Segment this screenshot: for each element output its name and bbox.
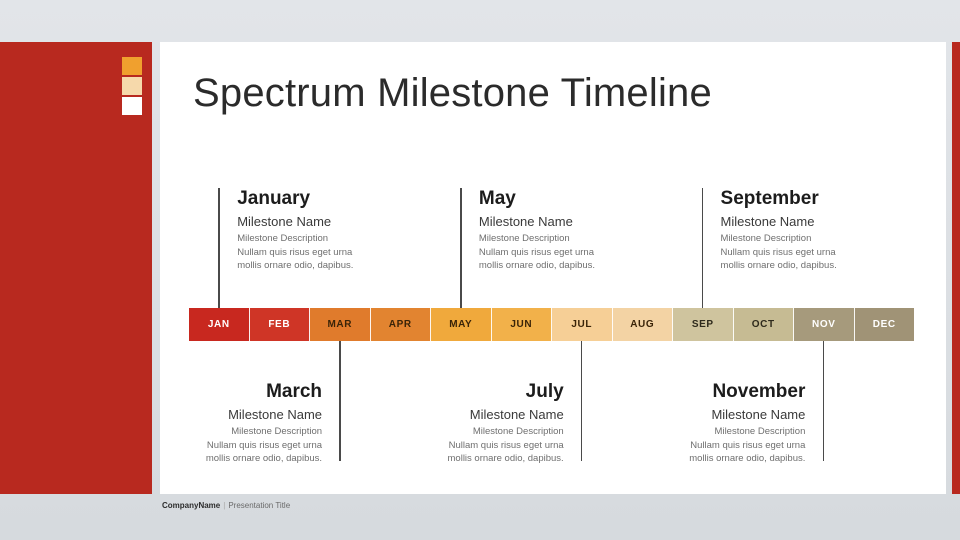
milestone-description: Milestone DescriptionNullam quis risus e… <box>721 232 953 271</box>
month-label: APR <box>389 319 412 330</box>
footer-separator: | <box>223 501 225 510</box>
milestone-description-line: Milestone Description <box>332 425 564 438</box>
month-label: AUG <box>630 319 654 330</box>
milestone-description-line: Nullam quis risus eget urna <box>479 246 711 259</box>
milestone-description-line: mollis ornare odio, dapibus. <box>90 452 322 465</box>
milestone-description-line: mollis ornare odio, dapibus. <box>332 452 564 465</box>
footer: CompanyName|Presentation Title <box>162 501 290 510</box>
milestone-name: Milestone Name <box>90 407 322 423</box>
footer-company-name: CompanyName <box>162 501 220 510</box>
logo-square-white <box>122 97 142 115</box>
milestone-name: Milestone Name <box>237 214 469 230</box>
month-cell-may[interactable]: MAY <box>431 308 492 341</box>
month-cell-sep[interactable]: SEP <box>673 308 734 341</box>
month-cell-jun[interactable]: JUN <box>492 308 553 341</box>
milestone-description: Milestone DescriptionNullam quis risus e… <box>237 232 469 271</box>
month-label: NOV <box>812 319 835 330</box>
logo-square-tan <box>122 77 142 95</box>
milestone-description-line: Milestone Description <box>479 232 711 245</box>
page-title: Spectrum Milestone Timeline <box>193 71 712 116</box>
milestone-description-line: Nullam quis risus eget urna <box>573 439 805 452</box>
milestone-name: Milestone Name <box>479 214 711 230</box>
month-cell-apr[interactable]: APR <box>371 308 432 341</box>
milestone-month: January <box>237 188 469 210</box>
month-label: DEC <box>873 319 896 330</box>
month-label: SEP <box>692 319 714 330</box>
milestone-block-march[interactable]: MarchMilestone NameMilestone Description… <box>90 381 340 465</box>
month-label: JUN <box>510 319 532 330</box>
month-cell-aug[interactable]: AUG <box>613 308 674 341</box>
month-label: OCT <box>752 319 775 330</box>
timeline-month-bar: JANFEBMARAPRMAYJUNJULAUGSEPOCTNOVDEC <box>189 308 914 341</box>
milestone-block-may[interactable]: MayMilestone NameMilestone DescriptionNu… <box>461 188 711 272</box>
month-cell-dec[interactable]: DEC <box>855 308 915 341</box>
month-cell-jul[interactable]: JUL <box>552 308 613 341</box>
milestone-description-line: Nullam quis risus eget urna <box>332 439 564 452</box>
footer-presentation-title: Presentation Title <box>228 501 290 510</box>
month-label: FEB <box>268 319 290 330</box>
milestone-description-line: mollis ornare odio, dapibus. <box>237 259 469 272</box>
month-cell-nov[interactable]: NOV <box>794 308 855 341</box>
milestone-description: Milestone DescriptionNullam quis risus e… <box>90 425 322 464</box>
milestone-description-line: mollis ornare odio, dapibus. <box>479 259 711 272</box>
month-cell-mar[interactable]: MAR <box>310 308 371 341</box>
right-red-accent-strip <box>952 42 960 494</box>
month-label: MAR <box>327 319 352 330</box>
milestone-description-line: Nullam quis risus eget urna <box>721 246 953 259</box>
milestone-block-september[interactable]: SeptemberMilestone NameMilestone Descrip… <box>703 188 953 272</box>
milestone-description-line: mollis ornare odio, dapibus. <box>573 452 805 465</box>
month-label: JUL <box>571 319 592 330</box>
milestone-month: May <box>479 188 711 210</box>
month-cell-oct[interactable]: OCT <box>734 308 795 341</box>
month-label: MAY <box>449 319 472 330</box>
milestone-month: March <box>90 381 322 403</box>
milestone-month: November <box>573 381 805 403</box>
milestone-description-line: Nullam quis risus eget urna <box>237 246 469 259</box>
milestone-description-line: Milestone Description <box>721 232 953 245</box>
milestone-description-line: Milestone Description <box>573 425 805 438</box>
logo <box>122 57 142 117</box>
milestone-description: Milestone DescriptionNullam quis risus e… <box>332 425 564 464</box>
milestone-description-line: mollis ornare odio, dapibus. <box>721 259 953 272</box>
milestone-description-line: Milestone Description <box>90 425 322 438</box>
milestone-description-line: Nullam quis risus eget urna <box>90 439 322 452</box>
milestone-month: September <box>721 188 953 210</box>
milestone-name: Milestone Name <box>721 214 953 230</box>
month-cell-jan[interactable]: JAN <box>189 308 250 341</box>
logo-square-orange <box>122 57 142 75</box>
milestone-block-january[interactable]: JanuaryMilestone NameMilestone Descripti… <box>219 188 469 272</box>
month-cell-feb[interactable]: FEB <box>250 308 311 341</box>
milestone-name: Milestone Name <box>332 407 564 423</box>
milestone-name: Milestone Name <box>573 407 805 423</box>
milestone-description: Milestone DescriptionNullam quis risus e… <box>573 425 805 464</box>
milestone-month: July <box>332 381 564 403</box>
milestone-description: Milestone DescriptionNullam quis risus e… <box>479 232 711 271</box>
month-label: JAN <box>208 319 230 330</box>
milestone-block-november[interactable]: NovemberMilestone NameMilestone Descript… <box>573 381 823 465</box>
milestone-description-line: Milestone Description <box>237 232 469 245</box>
milestone-block-july[interactable]: JulyMilestone NameMilestone DescriptionN… <box>332 381 582 465</box>
